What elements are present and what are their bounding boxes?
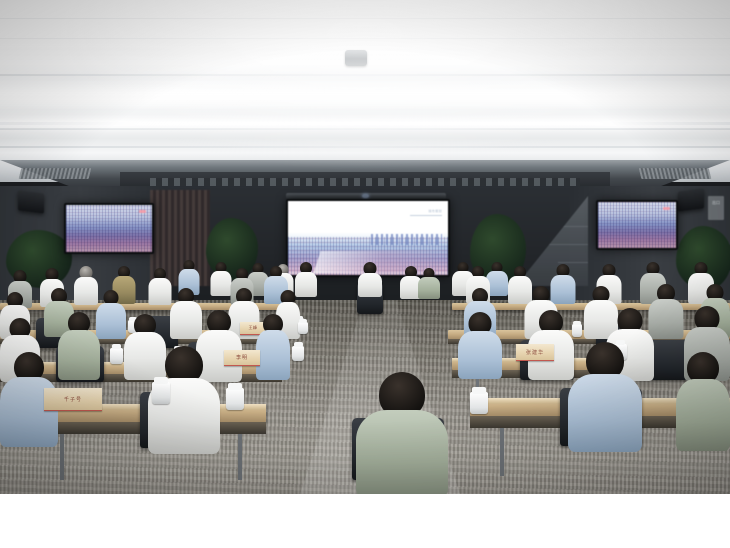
- name-placard-text: 张建华: [526, 349, 544, 356]
- tea-mug: [470, 392, 488, 414]
- attendee: [356, 372, 448, 494]
- ceiling-sensor-icon: [345, 50, 367, 66]
- main-screen-caption-rule: [410, 215, 442, 216]
- attendee: [458, 312, 502, 376]
- ceiling: [0, 0, 730, 182]
- tea-mug: [298, 322, 308, 334]
- exit-sign: 出口: [708, 196, 724, 220]
- ceiling-light-strip-mid: [0, 96, 730, 102]
- right-screen-accent-mark: [663, 207, 670, 210]
- attendee: [256, 314, 290, 378]
- name-placard-text: 李明: [236, 354, 248, 361]
- tea-mug: [226, 388, 244, 410]
- tea-mug: [110, 348, 123, 364]
- main-screen-caption: 城市规划: [428, 209, 442, 213]
- attendee: [148, 268, 171, 304]
- attendee: [358, 262, 382, 296]
- conference-room-photo: 出口 城市规划: [0, 0, 730, 494]
- wall-speaker-right: [678, 188, 704, 211]
- attendee: [74, 266, 98, 304]
- name-placard: 张建华: [516, 344, 554, 361]
- exit-sign-label: 出口: [708, 200, 724, 206]
- air-vent-grille-right: [639, 168, 712, 179]
- air-vent-grille-left: [19, 168, 92, 179]
- attendee: [676, 352, 730, 448]
- attendee: [58, 312, 100, 378]
- name-placard-text: 千子号: [64, 396, 82, 403]
- ceiling-light-strip-front: [0, 122, 730, 125]
- name-placard: 千子号: [44, 388, 102, 411]
- camera-lens-icon: [362, 194, 369, 198]
- right-led-screen: [596, 200, 678, 250]
- attendee: [418, 268, 440, 298]
- name-placard: 李明: [224, 350, 260, 366]
- left-screen-accent-mark: [139, 210, 146, 213]
- attendee: [568, 342, 642, 448]
- main-screen-skyline: [371, 234, 441, 246]
- left-led-screen: [64, 203, 154, 254]
- tea-mug: [292, 346, 304, 361]
- tea-mug: [152, 382, 170, 404]
- attendee: [96, 290, 126, 338]
- wall-speaker-left: [18, 190, 44, 213]
- screenshot-canvas: 出口 城市规划: [0, 0, 730, 548]
